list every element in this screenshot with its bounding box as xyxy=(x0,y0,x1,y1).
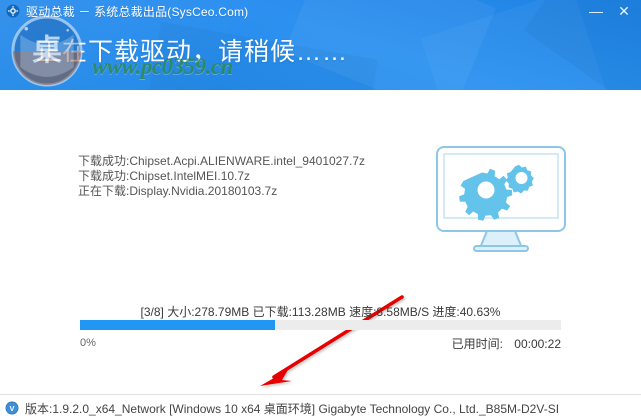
monitor-with-gears-icon xyxy=(432,144,570,256)
header-banner: 驱动总裁 － 系统总裁出品(SysCeo.Com) — ✕ 正在下载驱动，请稍候… xyxy=(0,0,641,90)
version-badge-icon: V xyxy=(5,401,19,415)
elapsed-time-label: 已用时间: xyxy=(452,337,503,351)
progress-bar-track xyxy=(80,320,561,330)
log-line: 正在下载:Display.Nvidia.20180103.7z xyxy=(78,184,365,199)
app-gear-icon xyxy=(6,4,20,18)
main-content: 下载成功:Chipset.Acpi.ALIENWARE.intel_940102… xyxy=(0,90,641,394)
svg-text:V: V xyxy=(10,404,15,413)
log-line: 下载成功:Chipset.IntelMEI.10.7z xyxy=(78,169,365,184)
progress-status-line: [3/8] 大小:278.79MB 已下载:113.28MB 速度:8.58MB… xyxy=(0,303,641,320)
minimize-button[interactable]: — xyxy=(583,1,609,21)
elapsed-time: 已用时间: 00:00:22 xyxy=(452,335,561,352)
progress-bar-fill xyxy=(80,320,275,330)
application-window: 驱动总裁 － 系统总裁出品(SysCeo.Com) — ✕ 正在下载驱动，请稍候… xyxy=(0,0,641,420)
download-log: 下载成功:Chipset.Acpi.ALIENWARE.intel_940102… xyxy=(78,154,365,199)
red-arrow-annotation xyxy=(230,280,430,400)
window-title: 驱动总裁 － 系统总裁出品(SysCeo.Com) xyxy=(26,3,248,20)
header-headline: 正在下载驱动，请稍候…… xyxy=(36,32,348,68)
elapsed-time-value: 00:00:22 xyxy=(514,337,561,351)
title-bar[interactable]: 驱动总裁 － 系统总裁出品(SysCeo.Com) — ✕ xyxy=(0,0,641,22)
footer-status-bar: V 版本:1.9.2.0_x64_Network [Windows 10 x64… xyxy=(0,394,641,420)
version-info-text: 版本:1.9.2.0_x64_Network [Windows 10 x64 桌… xyxy=(25,400,559,417)
log-line: 下载成功:Chipset.Acpi.ALIENWARE.intel_940102… xyxy=(78,154,365,169)
window-controls: — ✕ xyxy=(583,0,637,22)
close-button[interactable]: ✕ xyxy=(611,1,637,21)
overall-progress-percent: 0% xyxy=(80,337,96,349)
